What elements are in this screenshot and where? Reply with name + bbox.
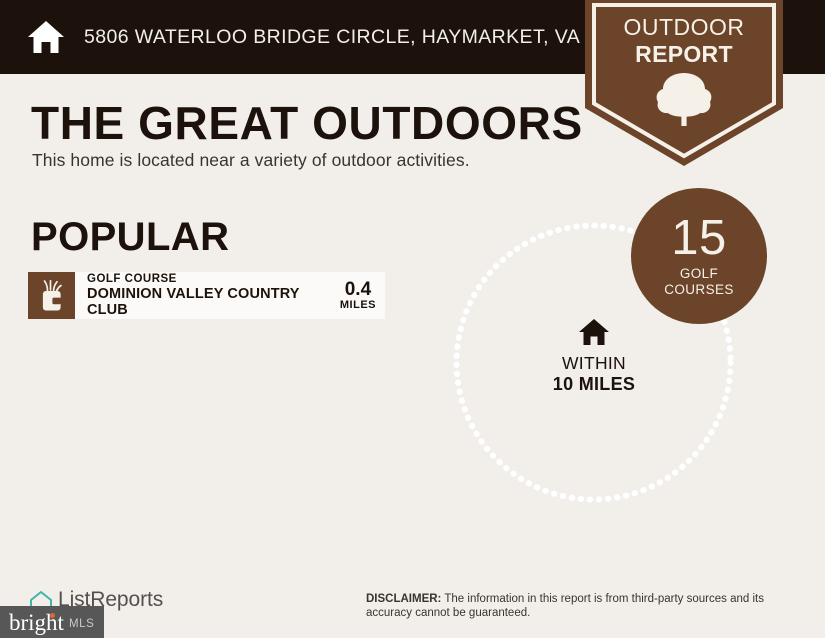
map-center-marker: WITHIN 10 MILES [529, 318, 659, 395]
distance-value: 0.4 [340, 280, 376, 299]
page-title: THE GREAT OUTDOORS [31, 96, 583, 150]
outdoor-report-page: 5806 WATERLOO BRIDGE CIRCLE, HAYMARKET, … [0, 0, 825, 638]
popular-card-body: GOLF COURSE DOMINION VALLEY COUNTRY CLUB… [75, 272, 385, 319]
distance-unit: MILES [340, 300, 376, 311]
count-value: 15 [671, 214, 727, 262]
count-label-line1: GOLF [664, 266, 734, 282]
bright-mls-watermark: bright MLS [0, 606, 104, 638]
badge-title-line2: REPORT [585, 41, 783, 68]
disclaimer-label: DISCLAIMER: [366, 593, 441, 605]
section-heading-popular: POPULAR [31, 214, 229, 260]
bright-mls-suffix: MLS [69, 618, 94, 630]
home-icon [578, 318, 610, 346]
place-name: DOMINION VALLEY COUNTRY CLUB [87, 286, 332, 318]
golf-bag-icon [28, 272, 75, 319]
golf-courses-count-bubble: 15 GOLF COURSES [631, 188, 767, 324]
popular-place-card[interactable]: GOLF COURSE DOMINION VALLEY COUNTRY CLUB… [28, 272, 385, 319]
badge-title: OUTDOOR REPORT [585, 14, 783, 68]
radius-label-line2: 10 MILES [529, 374, 659, 395]
place-category: GOLF COURSE [87, 273, 332, 286]
badge-title-line1: OUTDOOR [585, 14, 783, 41]
count-label-line2: COURSES [664, 282, 734, 298]
bright-mls-brand-text: bright [9, 610, 64, 635]
bright-mls-brand: bright [9, 611, 64, 634]
disclaimer: DISCLAIMER: The information in this repo… [366, 592, 811, 620]
bright-mls-dot [50, 613, 55, 618]
popular-card-labels: GOLF COURSE DOMINION VALLEY COUNTRY CLUB [87, 273, 332, 318]
radius-label-line1: WITHIN [529, 353, 659, 374]
page-subtitle: This home is located near a variety of o… [32, 150, 470, 171]
home-icon [26, 17, 66, 57]
count-label: GOLF COURSES [664, 266, 734, 298]
place-distance: 0.4 MILES [332, 280, 376, 311]
property-address: 5806 WATERLOO BRIDGE CIRCLE, HAYMARKET, … [84, 26, 641, 49]
outdoor-report-badge: OUTDOOR REPORT [585, 0, 783, 166]
